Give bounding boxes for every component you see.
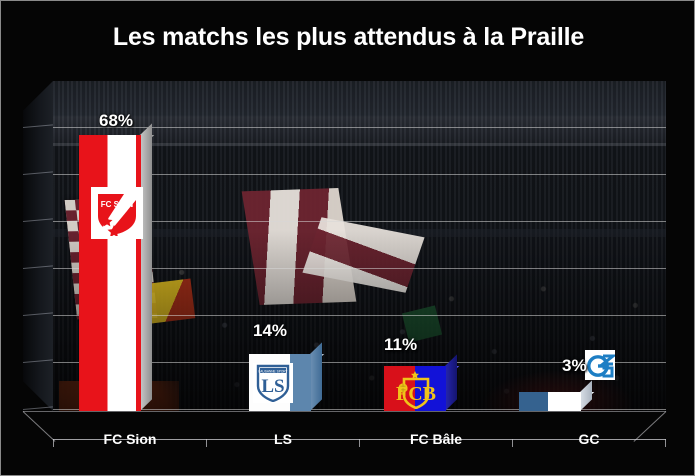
lausanne-sport-crest: LAUSANNE SPORT LS bbox=[253, 363, 293, 403]
value-label-ls: 14% bbox=[253, 321, 287, 341]
category-label-fc-bale: FC Bâle bbox=[359, 431, 513, 447]
side-wall-gridline bbox=[23, 406, 53, 410]
category-label-gc: GC bbox=[512, 431, 666, 447]
bar-gc[interactable] bbox=[519, 392, 581, 411]
fc-basel-crest: FCB bbox=[395, 368, 437, 410]
bar-fc-bale[interactable]: FCB bbox=[384, 366, 446, 411]
value-label-gc: 3% bbox=[562, 356, 587, 376]
category-label-ls: LS bbox=[206, 431, 360, 447]
bar-front-face: FC SION bbox=[79, 135, 141, 411]
chart-container: Les matchs les plus attendus à la Praill… bbox=[0, 0, 695, 476]
category-label-fc-sion: FC Sion bbox=[53, 431, 207, 447]
bar-side-face bbox=[140, 123, 152, 411]
bar-front-face: LAUSANNE SPORT LS bbox=[249, 354, 311, 411]
bar-front-face bbox=[519, 392, 581, 411]
gridline bbox=[53, 127, 666, 128]
value-label-fc-bale: 11% bbox=[384, 335, 417, 355]
svg-text:FC SION: FC SION bbox=[101, 200, 134, 209]
grasshopper-crest bbox=[585, 350, 615, 380]
svg-text:LAUSANNE SPORT: LAUSANNE SPORT bbox=[259, 369, 288, 373]
value-label-fc-sion: 68% bbox=[99, 111, 133, 131]
bar-side-face bbox=[310, 342, 322, 411]
floor-top-edge bbox=[23, 411, 666, 412]
svg-text:LS: LS bbox=[261, 376, 284, 397]
bar-ls[interactable]: LAUSANNE SPORT LS bbox=[249, 354, 311, 411]
chart-title: Les matchs les plus attendus à la Praill… bbox=[1, 23, 695, 52]
floor-left-edge bbox=[23, 411, 54, 440]
svg-text:FCB: FCB bbox=[396, 383, 436, 405]
bar-front-face: FCB bbox=[384, 366, 446, 411]
fc-sion-crest: FC SION bbox=[91, 187, 143, 239]
chart-side-wall bbox=[23, 81, 53, 411]
bar-fc-sion[interactable]: FC SION bbox=[79, 135, 141, 411]
